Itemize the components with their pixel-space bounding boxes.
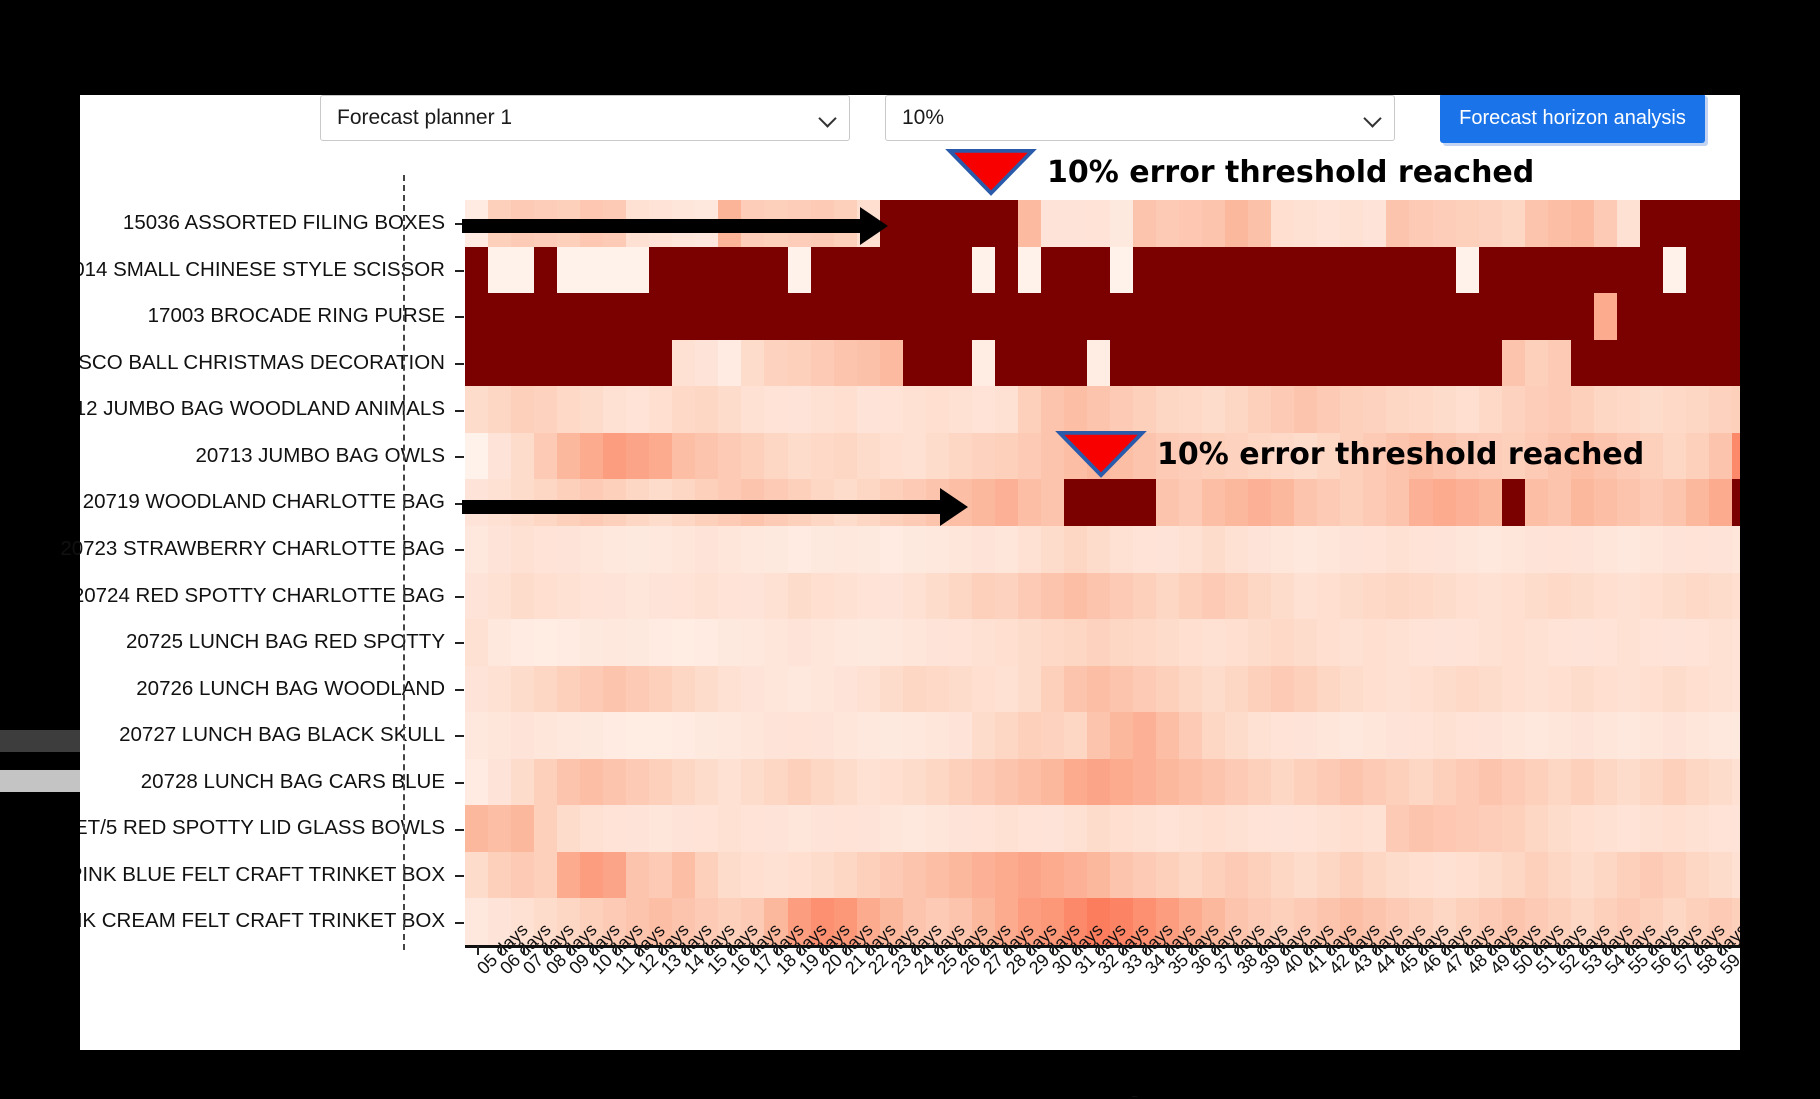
heatmap-cell[interactable] [857, 293, 880, 340]
heatmap-cell[interactable] [626, 573, 649, 620]
heatmap-cell[interactable] [649, 433, 672, 480]
heatmap-cell[interactable] [1202, 293, 1225, 340]
heatmap-cell[interactable] [488, 386, 511, 433]
heatmap-cell[interactable] [788, 526, 811, 573]
heatmap-cell[interactable] [1110, 200, 1133, 247]
heatmap-cell[interactable] [880, 759, 903, 806]
heatmap-cell[interactable] [1248, 247, 1271, 294]
heatmap-cell[interactable] [1433, 666, 1456, 713]
heatmap-cell[interactable] [949, 573, 972, 620]
heatmap-cell[interactable] [834, 619, 857, 666]
heatmap-cell[interactable] [718, 340, 741, 387]
heatmap-cell[interactable] [534, 619, 557, 666]
heatmap-cell[interactable] [1525, 340, 1548, 387]
heatmap-cell[interactable] [1363, 526, 1386, 573]
heatmap-cell[interactable] [1133, 479, 1156, 526]
heatmap-cell[interactable] [1409, 200, 1432, 247]
heatmap-cell[interactable] [695, 573, 718, 620]
heatmap-cell[interactable] [1087, 200, 1110, 247]
heatmap-cell[interactable] [949, 433, 972, 480]
heatmap-cell[interactable] [1663, 619, 1686, 666]
heatmap-cell[interactable] [926, 293, 949, 340]
heatmap-cell[interactable] [1225, 573, 1248, 620]
heatmap-cell[interactable] [1363, 852, 1386, 899]
heatmap-cell[interactable] [811, 386, 834, 433]
heatmap-cell[interactable] [1179, 386, 1202, 433]
heatmap-cell[interactable] [1456, 666, 1479, 713]
heatmap-cell[interactable] [857, 805, 880, 852]
heatmap-cell[interactable] [1133, 340, 1156, 387]
heatmap-cell[interactable] [557, 573, 580, 620]
heatmap-cell[interactable] [1363, 759, 1386, 806]
heatmap-cell[interactable] [1502, 247, 1525, 294]
heatmap-cell[interactable] [811, 293, 834, 340]
heatmap-cell[interactable] [903, 852, 926, 899]
heatmap-cell[interactable] [1640, 619, 1663, 666]
heatmap-cell[interactable] [811, 852, 834, 899]
heatmap-cell[interactable] [1363, 619, 1386, 666]
heatmap-cell[interactable] [1271, 805, 1294, 852]
heatmap-cell[interactable] [1525, 200, 1548, 247]
heatmap-cell[interactable] [1502, 573, 1525, 620]
heatmap-cell[interactable] [1179, 805, 1202, 852]
heatmap-cell[interactable] [1456, 293, 1479, 340]
heatmap-cell[interactable] [511, 805, 534, 852]
heatmap-cell[interactable] [995, 340, 1018, 387]
heatmap-cell[interactable] [995, 805, 1018, 852]
heatmap-cell[interactable] [1064, 386, 1087, 433]
heatmap-cell[interactable] [903, 293, 926, 340]
heatmap-cell[interactable] [557, 340, 580, 387]
heatmap-cell[interactable] [1317, 340, 1340, 387]
heatmap-cell[interactable] [1456, 712, 1479, 759]
heatmap-cell[interactable] [1294, 479, 1317, 526]
heatmap-cell[interactable] [1386, 479, 1409, 526]
heatmap-cell[interactable] [1202, 805, 1225, 852]
heatmap-cell[interactable] [1456, 573, 1479, 620]
heatmap-cell[interactable] [1018, 573, 1041, 620]
heatmap-cell[interactable] [718, 526, 741, 573]
heatmap-cell[interactable] [511, 293, 534, 340]
heatmap-cell[interactable] [1248, 805, 1271, 852]
heatmap-cell[interactable] [534, 852, 557, 899]
heatmap-cell[interactable] [1709, 805, 1732, 852]
heatmap-cell[interactable] [626, 666, 649, 713]
heatmap-cell[interactable] [741, 759, 764, 806]
heatmap-cell[interactable] [1064, 666, 1087, 713]
heatmap-cell[interactable] [511, 433, 534, 480]
heatmap-cell[interactable] [1433, 340, 1456, 387]
heatmap-cell[interactable] [834, 526, 857, 573]
heatmap-cell[interactable] [1502, 386, 1525, 433]
heatmap-cell[interactable] [488, 619, 511, 666]
heatmap-cell[interactable] [1110, 759, 1133, 806]
heatmap-cell[interactable] [903, 666, 926, 713]
heatmap-cell[interactable] [557, 805, 580, 852]
heatmap-cell[interactable] [1640, 666, 1663, 713]
heatmap-cell[interactable] [1571, 619, 1594, 666]
heatmap-cell[interactable] [1248, 712, 1271, 759]
heatmap-cell[interactable] [1502, 712, 1525, 759]
heatmap-cell[interactable] [972, 433, 995, 480]
heatmap-cell[interactable] [1340, 805, 1363, 852]
chevron-down-icon[interactable] [1364, 109, 1382, 127]
heatmap-cell[interactable] [1225, 852, 1248, 899]
heatmap-cell[interactable] [1041, 386, 1064, 433]
heatmap-cell[interactable] [1156, 293, 1179, 340]
heatmap-cell[interactable] [834, 247, 857, 294]
heatmap-cell[interactable] [1594, 526, 1617, 573]
heatmap-cell[interactable] [1548, 573, 1571, 620]
heatmap-cell[interactable] [580, 247, 603, 294]
heatmap-cell[interactable] [534, 666, 557, 713]
heatmap-cell[interactable] [1133, 247, 1156, 294]
heatmap-cell[interactable] [972, 759, 995, 806]
heatmap-cell[interactable] [972, 479, 995, 526]
heatmap-cell[interactable] [1640, 479, 1663, 526]
heatmap-cell[interactable] [1640, 573, 1663, 620]
heatmap-cell[interactable] [1479, 666, 1502, 713]
heatmap-cell[interactable] [1456, 526, 1479, 573]
heatmap-cell[interactable] [764, 759, 787, 806]
heatmap-cell[interactable] [995, 386, 1018, 433]
heatmap-cell[interactable] [1248, 200, 1271, 247]
heatmap-cell[interactable] [1271, 712, 1294, 759]
heatmap-cell[interactable] [1041, 247, 1064, 294]
heatmap-cell[interactable] [603, 666, 626, 713]
heatmap-cell[interactable] [488, 526, 511, 573]
heatmap-cell[interactable] [741, 619, 764, 666]
heatmap-cell[interactable] [788, 386, 811, 433]
heatmap-cell[interactable] [1409, 247, 1432, 294]
heatmap-cell[interactable] [511, 666, 534, 713]
heatmap-cell[interactable] [1686, 666, 1709, 713]
heatmap-cell[interactable] [857, 247, 880, 294]
heatmap-cell[interactable] [1064, 526, 1087, 573]
heatmap-cell[interactable] [1663, 852, 1686, 899]
heatmap-cell[interactable] [1271, 293, 1294, 340]
heatmap-cell[interactable] [1640, 247, 1663, 294]
heatmap-cell[interactable] [1525, 247, 1548, 294]
heatmap-cell[interactable] [1248, 386, 1271, 433]
heatmap-cell[interactable] [1709, 759, 1732, 806]
heatmap-cell[interactable] [1363, 573, 1386, 620]
heatmap-cell[interactable] [534, 805, 557, 852]
heatmap-cell[interactable] [488, 666, 511, 713]
heatmap-cell[interactable] [972, 573, 995, 620]
heatmap-cell[interactable] [1409, 479, 1432, 526]
heatmap-cell[interactable] [1087, 666, 1110, 713]
heatmap-cell[interactable] [1248, 479, 1271, 526]
heatmap-cell[interactable] [949, 200, 972, 247]
heatmap-cell[interactable] [764, 293, 787, 340]
heatmap-cell[interactable] [1317, 247, 1340, 294]
heatmap-cell[interactable] [880, 712, 903, 759]
heatmap-cell[interactable] [1133, 666, 1156, 713]
heatmap-cell[interactable] [1317, 712, 1340, 759]
heatmap-cell[interactable] [1110, 247, 1133, 294]
heatmap-cell[interactable] [741, 666, 764, 713]
heatmap-cell[interactable] [580, 386, 603, 433]
heatmap-cell[interactable] [764, 386, 787, 433]
heatmap-cell[interactable] [465, 619, 488, 666]
heatmap-cell[interactable] [972, 712, 995, 759]
heatmap-cell[interactable] [465, 433, 488, 480]
heatmap-cell[interactable] [1594, 759, 1617, 806]
heatmap-cell[interactable] [1248, 666, 1271, 713]
heatmap-cell[interactable] [718, 805, 741, 852]
heatmap-cell[interactable] [1709, 479, 1732, 526]
heatmap-cell[interactable] [1386, 573, 1409, 620]
heatmap-cell[interactable] [465, 247, 488, 294]
heatmap-cell[interactable] [1686, 247, 1709, 294]
heatmap-cell[interactable] [1386, 293, 1409, 340]
heatmap-cell[interactable] [1386, 666, 1409, 713]
heatmap-cell[interactable] [1548, 666, 1571, 713]
heatmap-cell[interactable] [718, 852, 741, 899]
heatmap-cell[interactable] [995, 666, 1018, 713]
heatmap-cell[interactable] [1571, 573, 1594, 620]
heatmap-cell[interactable] [718, 386, 741, 433]
heatmap-cell[interactable] [1202, 619, 1225, 666]
heatmap-cell[interactable] [580, 619, 603, 666]
heatmap-cell[interactable] [603, 340, 626, 387]
heatmap-cell[interactable] [1433, 619, 1456, 666]
heatmap-cell[interactable] [1456, 247, 1479, 294]
heatmap-cell[interactable] [788, 247, 811, 294]
heatmap-cell[interactable] [511, 759, 534, 806]
heatmap-cell[interactable] [1317, 293, 1340, 340]
heatmap-cell[interactable] [1479, 247, 1502, 294]
heatmap-cell[interactable] [1525, 619, 1548, 666]
heatmap-cell[interactable] [857, 759, 880, 806]
heatmap-cell[interactable] [811, 433, 834, 480]
heatmap-cell[interactable] [903, 573, 926, 620]
heatmap-cell[interactable] [1363, 479, 1386, 526]
heatmap-cell[interactable] [672, 573, 695, 620]
heatmap-cell[interactable] [1179, 200, 1202, 247]
heatmap-cell[interactable] [1271, 619, 1294, 666]
heatmap-cell[interactable] [1594, 805, 1617, 852]
heatmap-cell[interactable] [1409, 386, 1432, 433]
heatmap-cell[interactable] [1594, 479, 1617, 526]
heatmap-cell[interactable] [764, 852, 787, 899]
heatmap-cell[interactable] [718, 247, 741, 294]
heatmap-cell[interactable] [1502, 293, 1525, 340]
heatmap-cell[interactable] [880, 293, 903, 340]
heatmap-cell[interactable] [1456, 479, 1479, 526]
heatmap-cell[interactable] [1179, 293, 1202, 340]
heatmap-cell[interactable] [1248, 573, 1271, 620]
heatmap-cell[interactable] [1179, 759, 1202, 806]
heatmap-cell[interactable] [1064, 805, 1087, 852]
heatmap-cell[interactable] [741, 433, 764, 480]
heatmap-cell[interactable] [1502, 666, 1525, 713]
heatmap-cell[interactable] [1386, 852, 1409, 899]
heatmap-cell[interactable] [1133, 386, 1156, 433]
heatmap-cell[interactable] [1409, 573, 1432, 620]
heatmap-cell[interactable] [718, 759, 741, 806]
heatmap-cell[interactable] [580, 433, 603, 480]
heatmap-cell[interactable] [834, 759, 857, 806]
heatmap-cell[interactable] [1317, 759, 1340, 806]
heatmap-cell[interactable] [926, 247, 949, 294]
heatmap-cell[interactable] [488, 433, 511, 480]
heatmap-cell[interactable] [1294, 852, 1317, 899]
heatmap-cell[interactable] [1294, 666, 1317, 713]
heatmap-cell[interactable] [1594, 293, 1617, 340]
heatmap-cell[interactable] [811, 526, 834, 573]
heatmap-cell[interactable] [511, 526, 534, 573]
heatmap-cell[interactable] [1502, 340, 1525, 387]
heatmap-cell[interactable] [695, 712, 718, 759]
heatmap-cell[interactable] [580, 805, 603, 852]
heatmap-cell[interactable] [1294, 573, 1317, 620]
heatmap-cell[interactable] [1340, 666, 1363, 713]
heatmap-cell[interactable] [788, 712, 811, 759]
heatmap-cell[interactable] [1340, 293, 1363, 340]
heatmap-cell[interactable] [834, 340, 857, 387]
heatmap-cell[interactable] [1340, 573, 1363, 620]
heatmap-cell[interactable] [718, 712, 741, 759]
heatmap-cell[interactable] [972, 666, 995, 713]
heatmap-cell[interactable] [811, 619, 834, 666]
heatmap-cell[interactable] [1225, 759, 1248, 806]
heatmap-cell[interactable] [1018, 433, 1041, 480]
heatmap-cell[interactable] [1709, 433, 1732, 480]
heatmap-cell[interactable] [1525, 479, 1548, 526]
heatmap-cell[interactable] [1225, 386, 1248, 433]
heatmap-cell[interactable] [557, 526, 580, 573]
heatmap-cell[interactable] [1409, 293, 1432, 340]
heatmap-cell[interactable] [1018, 666, 1041, 713]
heatmap-cell[interactable] [926, 200, 949, 247]
heatmap-cell[interactable] [1225, 479, 1248, 526]
heatmap-cell[interactable] [903, 433, 926, 480]
heatmap-cell[interactable] [1456, 759, 1479, 806]
heatmap-cell[interactable] [834, 293, 857, 340]
heatmap-cell[interactable] [1064, 293, 1087, 340]
heatmap-cell[interactable] [1640, 712, 1663, 759]
heatmap-cell[interactable] [1294, 712, 1317, 759]
heatmap-cell[interactable] [995, 759, 1018, 806]
heatmap-cell[interactable] [880, 386, 903, 433]
heatmap-cell[interactable] [1225, 712, 1248, 759]
heatmap-cell[interactable] [1663, 666, 1686, 713]
heatmap-cell[interactable] [603, 526, 626, 573]
heatmap-cell[interactable] [949, 759, 972, 806]
heatmap-cell[interactable] [1087, 479, 1110, 526]
heatmap-cell[interactable] [1064, 712, 1087, 759]
heatmap-cell[interactable] [1548, 526, 1571, 573]
heatmap-cell[interactable] [1294, 386, 1317, 433]
heatmap-cell[interactable] [1571, 386, 1594, 433]
heatmap-cell[interactable] [488, 247, 511, 294]
heatmap-cell[interactable] [926, 852, 949, 899]
heatmap-cell[interactable] [672, 433, 695, 480]
heatmap-cell[interactable] [1479, 340, 1502, 387]
heatmap-cell[interactable] [811, 805, 834, 852]
heatmap-cell[interactable] [695, 247, 718, 294]
heatmap-cell[interactable] [1041, 805, 1064, 852]
heatmap-cell[interactable] [1594, 386, 1617, 433]
heatmap-cell[interactable] [1156, 666, 1179, 713]
heatmap-cell[interactable] [1640, 852, 1663, 899]
heatmap-cell[interactable] [626, 619, 649, 666]
heatmap-cell[interactable] [1317, 573, 1340, 620]
heatmap-cell[interactable] [1640, 293, 1663, 340]
heatmap-cell[interactable] [1686, 386, 1709, 433]
heatmap-cell[interactable] [1340, 526, 1363, 573]
heatmap-cell[interactable] [764, 247, 787, 294]
heatmap-cell[interactable] [557, 666, 580, 713]
heatmap-cell[interactable] [741, 340, 764, 387]
heatmap-cell[interactable] [1409, 805, 1432, 852]
heatmap-cell[interactable] [1409, 619, 1432, 666]
heatmap-cell[interactable] [880, 619, 903, 666]
heatmap-cell[interactable] [580, 666, 603, 713]
heatmap-cell[interactable] [718, 293, 741, 340]
heatmap-cell[interactable] [1686, 293, 1709, 340]
heatmap-cell[interactable] [949, 340, 972, 387]
heatmap-cell[interactable] [972, 805, 995, 852]
heatmap-cell[interactable] [1156, 805, 1179, 852]
heatmap-cell[interactable] [1525, 852, 1548, 899]
heatmap-cell[interactable] [1294, 200, 1317, 247]
heatmap-cell[interactable] [903, 340, 926, 387]
heatmap-cell[interactable] [672, 852, 695, 899]
heatmap-cell[interactable] [1087, 759, 1110, 806]
heatmap-cell[interactable] [1709, 852, 1732, 899]
heatmap-cell[interactable] [672, 293, 695, 340]
heatmap-cell[interactable] [1156, 386, 1179, 433]
heatmap-cell[interactable] [1179, 619, 1202, 666]
heatmap-cell[interactable] [695, 759, 718, 806]
heatmap-cell[interactable] [1317, 666, 1340, 713]
heatmap-cell[interactable] [995, 247, 1018, 294]
heatmap-cell[interactable] [1663, 526, 1686, 573]
heatmap-cell[interactable] [1479, 479, 1502, 526]
heatmap-cell[interactable] [880, 340, 903, 387]
heatmap-cell[interactable] [649, 247, 672, 294]
heatmap-cell[interactable] [695, 526, 718, 573]
heatmap-cell[interactable] [1548, 479, 1571, 526]
heatmap-cell[interactable] [1409, 759, 1432, 806]
heatmap-cell[interactable] [1225, 340, 1248, 387]
heatmap-cell[interactable] [949, 247, 972, 294]
heatmap-cell[interactable] [1202, 247, 1225, 294]
heatmap-cell[interactable] [1686, 526, 1709, 573]
heatmap-cell[interactable] [1156, 759, 1179, 806]
heatmap-cell[interactable] [1571, 805, 1594, 852]
heatmap-cell[interactable] [1456, 805, 1479, 852]
heatmap-cell[interactable] [1548, 619, 1571, 666]
heatmap-cell[interactable] [764, 340, 787, 387]
heatmap-cell[interactable] [1479, 805, 1502, 852]
heatmap-cell[interactable] [695, 386, 718, 433]
heatmap-cell[interactable] [857, 619, 880, 666]
heatmap-cell[interactable] [1640, 805, 1663, 852]
heatmap-cell[interactable] [1179, 340, 1202, 387]
heatmap-cell[interactable] [926, 573, 949, 620]
heatmap-cell[interactable] [903, 200, 926, 247]
heatmap-cell[interactable] [1686, 712, 1709, 759]
heatmap-cell[interactable] [1294, 526, 1317, 573]
heatmap-cell[interactable] [672, 712, 695, 759]
heatmap-cell[interactable] [1663, 433, 1686, 480]
heatmap-cell[interactable] [580, 759, 603, 806]
heatmap-cell[interactable] [741, 852, 764, 899]
